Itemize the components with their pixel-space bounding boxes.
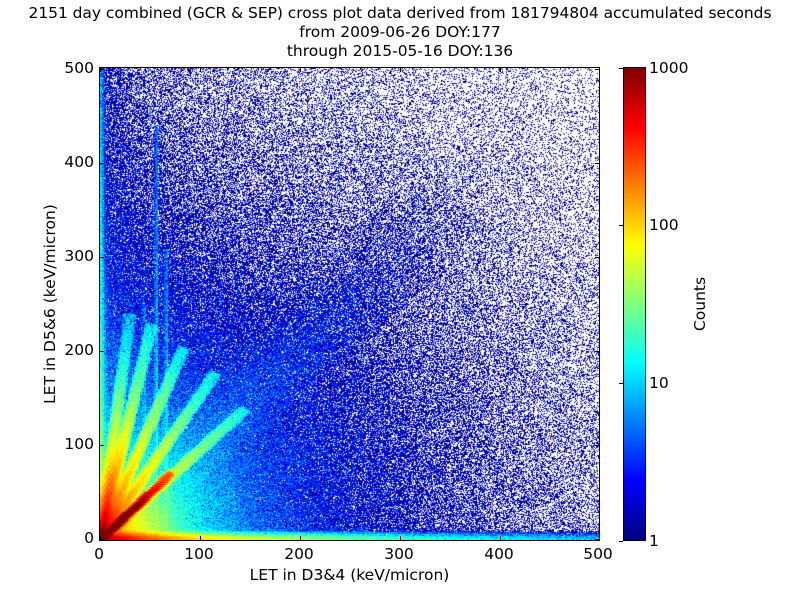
- colorbar-ticklabel-1000: 1000: [649, 59, 688, 77]
- colorbar-ticklabel-100: 100: [649, 216, 679, 234]
- xtick-300: [400, 536, 401, 540]
- yticklabel-400: 400: [64, 153, 94, 171]
- figure-canvas: 2151 day combined (GCR & SEP) cross plot…: [0, 0, 800, 600]
- ytick-500: [100, 69, 104, 70]
- ytick-right-500: [595, 69, 599, 70]
- yticklabel-300: 300: [64, 247, 94, 265]
- ytick-100: [100, 445, 104, 446]
- chart-title: 2151 day combined (GCR & SEP) cross plot…: [0, 4, 800, 61]
- colorbar-ticklabel-10: 10: [649, 374, 669, 392]
- xticklabel-100: 100: [184, 545, 214, 563]
- yticklabel-500: 500: [64, 59, 94, 77]
- chart-title-line-1: 2151 day combined (GCR & SEP) cross plot…: [0, 4, 800, 23]
- xtick-top-500: [599, 68, 600, 72]
- colorbar-tick-10: [619, 383, 623, 384]
- ytick-right-300: [595, 257, 599, 258]
- ytick-right-200: [595, 351, 599, 352]
- ytick-0: [100, 539, 104, 540]
- density-heatmap: [100, 68, 599, 540]
- x-axis-label: LET in D3&4 (keV/micron): [99, 566, 600, 584]
- yticklabel-100: 100: [64, 435, 94, 453]
- ytick-right-100: [595, 445, 599, 446]
- colorbar-ticklabel-1: 1: [649, 532, 659, 550]
- xtick-100: [200, 536, 201, 540]
- colorbar-tick-100: [619, 225, 623, 226]
- xtick-top-100: [200, 68, 201, 72]
- y-axis-label: LET in D5&6 (keV/micron): [40, 67, 60, 541]
- xtick-400: [500, 536, 501, 540]
- xticklabel-0: 0: [94, 545, 104, 563]
- ytick-200: [100, 351, 104, 352]
- xticklabel-300: 300: [384, 545, 414, 563]
- ytick-300: [100, 257, 104, 258]
- yticklabel-200: 200: [64, 341, 94, 359]
- plot-area: [99, 67, 600, 541]
- ytick-400: [100, 163, 104, 164]
- xtick-200: [300, 536, 301, 540]
- ytick-right-400: [595, 163, 599, 164]
- ytick-right-0: [595, 539, 599, 540]
- colorbar-gradient: [624, 68, 645, 540]
- colorbar-tick-1: [619, 541, 623, 542]
- xtick-top-200: [300, 68, 301, 72]
- colorbar-label: Counts: [690, 67, 710, 541]
- yticklabel-0: 0: [84, 529, 94, 547]
- xticklabel-200: 200: [284, 545, 314, 563]
- xtick-top-300: [400, 68, 401, 72]
- xticklabel-400: 400: [484, 545, 514, 563]
- xtick-500: [599, 536, 600, 540]
- chart-title-line-2: from 2009-06-26 DOY:177: [0, 23, 800, 42]
- xtick-top-400: [500, 68, 501, 72]
- colorbar-tick-1000: [619, 68, 623, 69]
- colorbar: [623, 67, 646, 541]
- xticklabel-500: 500: [583, 545, 613, 563]
